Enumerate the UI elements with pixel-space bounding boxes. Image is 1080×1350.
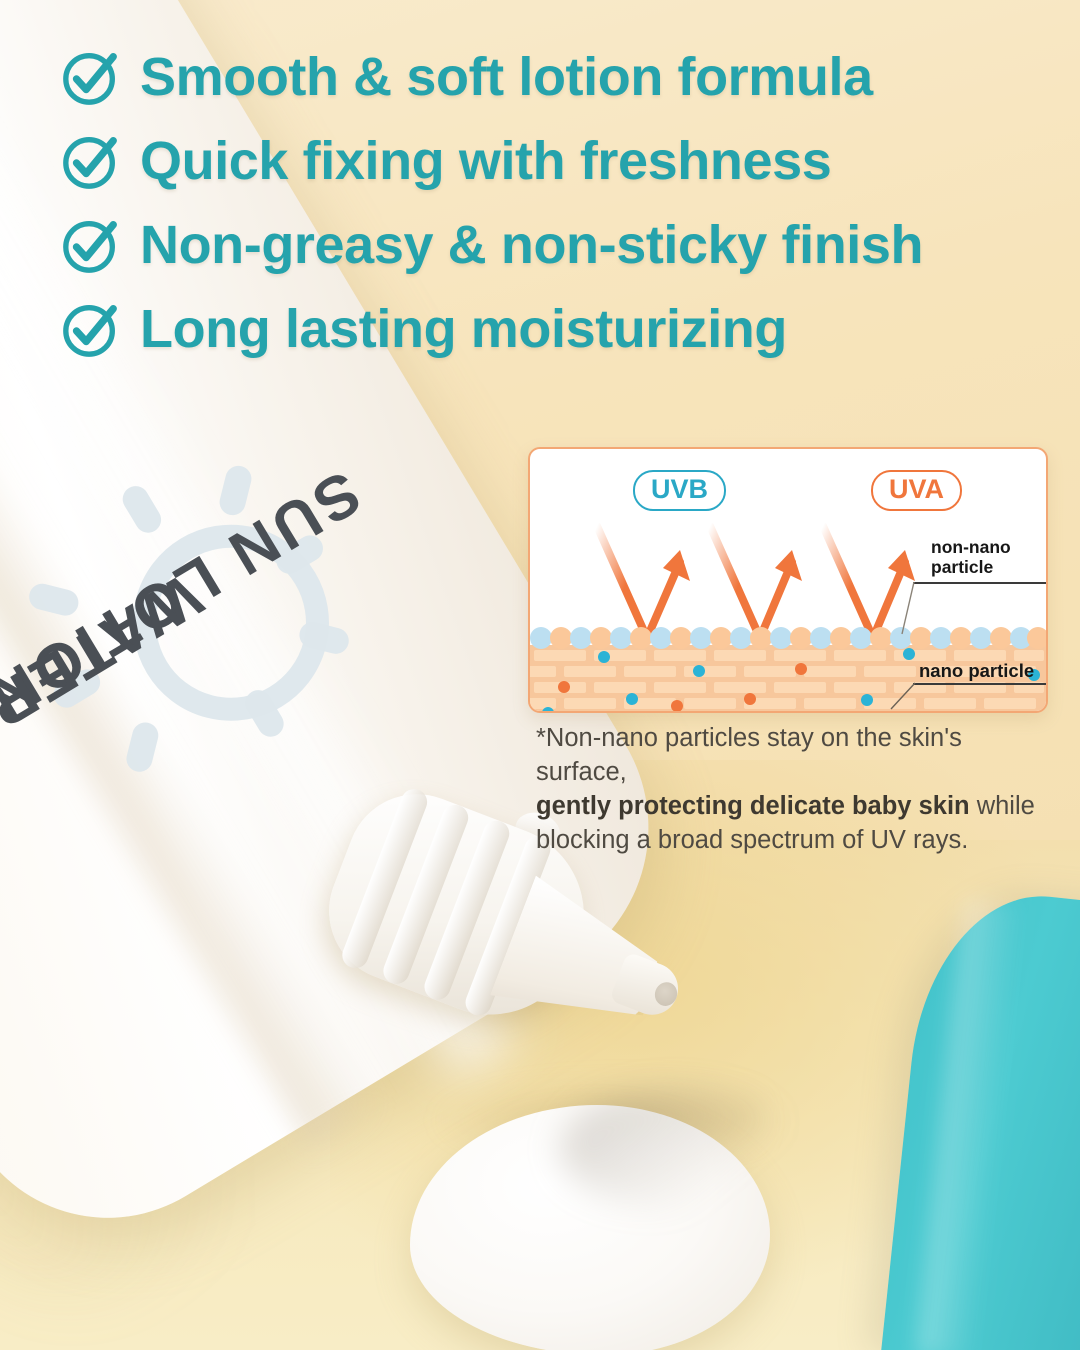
- list-item: Non-greasy & non-sticky finish: [60, 214, 1060, 276]
- nano-label-underline: [913, 683, 1046, 685]
- non-nano-label-line1: non-nano: [931, 537, 1011, 557]
- feature-label: Non-greasy & non-sticky finish: [140, 214, 923, 276]
- feature-list: Smooth & soft lotion formula Quick fixin…: [60, 46, 1060, 382]
- caption-after-bold: while: [970, 792, 1035, 820]
- nano-leader-line: [885, 681, 925, 713]
- caption-line-1: *Non-nano particles stay on the skin's s…: [536, 722, 1056, 790]
- check-circle-icon: [60, 46, 122, 108]
- check-circle-icon: [60, 130, 122, 192]
- check-circle-icon: [60, 298, 122, 360]
- uv-protection-diagram: UVB UVA: [528, 447, 1048, 713]
- feature-label: Long lasting moisturizing: [140, 298, 787, 360]
- caption-line-3: blocking a broad spectrum of UV rays.: [536, 824, 1056, 858]
- non-nano-leader-line: [900, 580, 940, 636]
- list-item: Quick fixing with freshness: [60, 130, 1060, 192]
- check-circle-icon: [60, 214, 122, 276]
- caption-bold: gently protecting delicate baby skin: [536, 792, 970, 820]
- feature-label: Quick fixing with freshness: [140, 130, 831, 192]
- diagram-caption: *Non-nano particles stay on the skin's s…: [536, 722, 1056, 858]
- non-nano-label-line2: particle: [931, 557, 993, 577]
- nano-label: nano particle: [919, 660, 1034, 681]
- caption-line-2: gently protecting delicate baby skin whi…: [536, 790, 1056, 824]
- non-nano-particle-layer: [530, 627, 1046, 653]
- list-item: Long lasting moisturizing: [60, 298, 1060, 360]
- list-item: Smooth & soft lotion formula: [60, 46, 1060, 108]
- lotion-blob-shadow: [560, 1090, 800, 1210]
- feature-label: Smooth & soft lotion formula: [140, 46, 873, 108]
